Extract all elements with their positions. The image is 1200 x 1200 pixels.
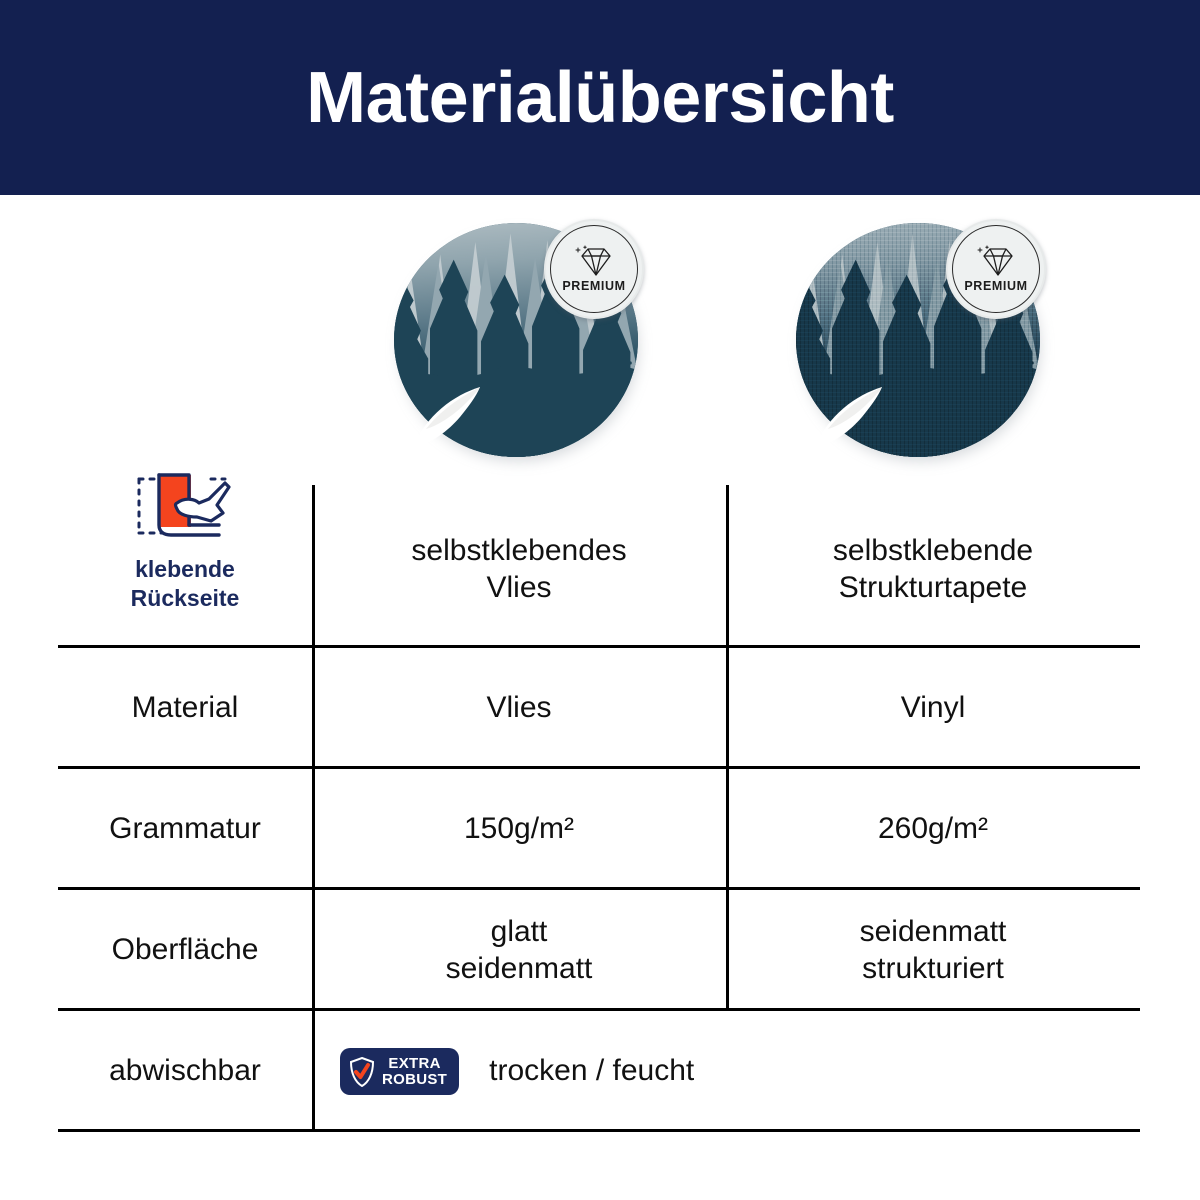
sticker-left: PREMIUM [392, 223, 642, 461]
table-header-row: klebende Rückseite selbstklebendes Vlies… [58, 463, 1140, 648]
extra-robust-badge: EXTRA ROBUST [340, 1048, 459, 1095]
diamond-icon [976, 245, 1016, 279]
column-divider-1 [312, 769, 315, 890]
row-value-vlies: 150g/m² [312, 769, 726, 890]
row-value-strukturtapete: Vinyl [726, 648, 1140, 769]
premium-badge-label: PREMIUM [562, 280, 625, 293]
column-divider-2 [726, 769, 729, 890]
shield-check-icon [349, 1057, 375, 1087]
row-label: Grammatur [58, 769, 312, 890]
table-bottom-divider [58, 1129, 1140, 1132]
diamond-icon [574, 245, 614, 279]
peeling-adhesive-hand-icon [133, 469, 237, 545]
column-divider-2 [726, 890, 729, 1011]
row-label: Material [58, 648, 312, 769]
premium-badge: PREMIUM [946, 219, 1046, 319]
column-divider-1 [312, 485, 315, 648]
column-header-strukturtapete: selbstklebende Strukturtapete [726, 463, 1140, 648]
extra-robust-line2: ROBUST [382, 1072, 447, 1088]
column-header-vlies: selbstklebendes Vlies [312, 463, 726, 648]
material-overview-page: Materialübersicht [0, 0, 1200, 1200]
column-divider-2 [726, 648, 729, 769]
adhesive-backing-label: klebende Rückseite [131, 555, 240, 612]
row-label: abwischbar [58, 1011, 312, 1132]
product-image-row: PREMIUM [0, 195, 1200, 485]
product-strukturtapete[interactable]: PREMIUM [794, 223, 1054, 473]
premium-badge: PREMIUM [544, 219, 644, 319]
row-value-span: EXTRA ROBUST trocken / feucht [312, 1011, 1140, 1132]
material-comparison-table: klebende Rückseite selbstklebendes Vlies… [58, 463, 1140, 1132]
row-value-strukturtapete: 260g/m² [726, 769, 1140, 890]
product-vlies[interactable]: PREMIUM [392, 223, 652, 473]
sticker-right: PREMIUM [794, 223, 1044, 461]
abwischbar-value: trocken / feucht [489, 1053, 694, 1090]
table-row-abwischbar: abwischbar EXTRA ROBUST trocken / feucht [58, 1011, 1140, 1132]
column-divider-1 [312, 648, 315, 769]
table-row-material: Material Vlies Vinyl [58, 648, 1140, 769]
column-divider-1 [312, 890, 315, 1011]
adhesive-backing-cell: klebende Rückseite [58, 463, 312, 648]
row-value-strukturtapete: seidenmatt strukturiert [726, 890, 1140, 1011]
table-row-grammatur: Grammatur 150g/m² 260g/m² [58, 769, 1140, 890]
row-value-vlies: glatt seidenmatt [312, 890, 726, 1011]
page-header: Materialübersicht [0, 0, 1200, 195]
extra-robust-line1: EXTRA [382, 1056, 447, 1072]
row-value-vlies: Vlies [312, 648, 726, 769]
column-divider-2 [726, 485, 729, 648]
premium-badge-label: PREMIUM [964, 280, 1027, 293]
row-label: Oberfläche [58, 890, 312, 1011]
column-divider-1 [312, 1011, 315, 1132]
table-row-oberflaeche: Oberfläche glatt seidenmatt seidenmatt s… [58, 890, 1140, 1011]
page-title: Materialübersicht [306, 62, 894, 134]
